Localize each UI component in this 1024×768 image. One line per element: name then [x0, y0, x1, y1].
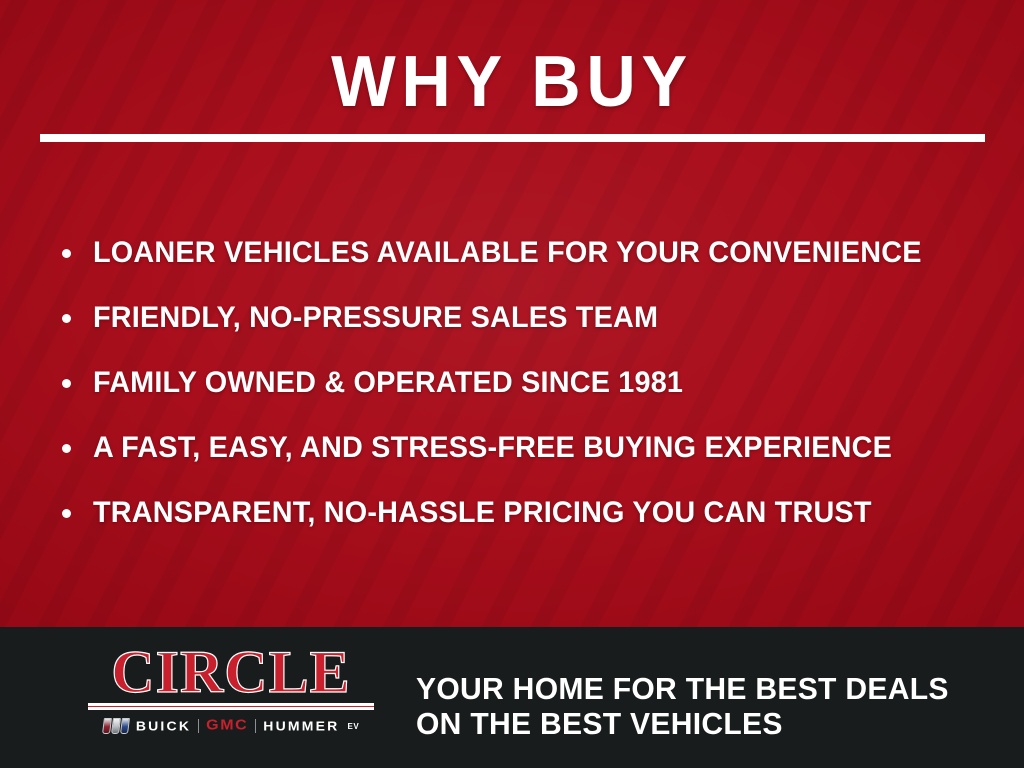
list-item-label: A FAST, EASY, AND STRESS-FREE BUYING EXP…: [93, 433, 892, 463]
bullet-dot-icon: [62, 509, 71, 518]
dealer-logo: CIRCLE BUICK GMC HUMMER EV: [88, 645, 374, 735]
brand-separator-icon: [255, 719, 256, 733]
dealer-logo-wordmark: CIRCLE: [88, 645, 374, 700]
list-item-label: TRANSPARENT, NO-HASSLE PRICING YOU CAN T…: [93, 498, 872, 528]
list-item-label: FRIENDLY, NO-PRESSURE SALES TEAM: [93, 303, 658, 333]
brand-label-hummer-suffix: EV: [348, 722, 360, 731]
footer-bar: CIRCLE BUICK GMC HUMMER EV YOUR HOME FOR…: [0, 627, 1024, 768]
bullet-dot-icon: [62, 249, 71, 258]
list-item: TRANSPARENT, NO-HASSLE PRICING YOU CAN T…: [62, 480, 992, 545]
benefits-list: LOANER VEHICLES AVAILABLE FOR YOUR CONVE…: [62, 220, 992, 545]
list-item: LOANER VEHICLES AVAILABLE FOR YOUR CONVE…: [62, 220, 992, 285]
brand-label-gmc: GMC: [206, 719, 248, 733]
list-item-label: LOANER VEHICLES AVAILABLE FOR YOUR CONVE…: [93, 238, 922, 268]
list-item-label: FAMILY OWNED & OPERATED SINCE 1981: [93, 368, 683, 398]
brand-label-buick: BUICK: [136, 720, 191, 733]
footer-tagline: YOUR HOME FOR THE BEST DEALS ON THE BEST…: [416, 671, 949, 741]
brand-separator-icon: [198, 719, 199, 733]
title-divider: [40, 134, 985, 142]
list-item: FAMILY OWNED & OPERATED SINCE 1981: [62, 350, 992, 415]
bullet-dot-icon: [62, 444, 71, 453]
brand-strip: BUICK GMC HUMMER EV: [88, 717, 374, 735]
dealer-logo-underline: [88, 703, 374, 710]
list-item: A FAST, EASY, AND STRESS-FREE BUYING EXP…: [62, 415, 992, 480]
footer-tagline-line1: YOUR HOME FOR THE BEST DEALS: [416, 671, 949, 706]
bullet-dot-icon: [62, 379, 71, 388]
brand-label-hummer: HUMMER: [263, 720, 339, 733]
buick-tri-shield-icon: [103, 718, 129, 734]
list-item: FRIENDLY, NO-PRESSURE SALES TEAM: [62, 285, 992, 350]
page-title: WHY BUY: [26, 46, 999, 118]
footer-tagline-line2: ON THE BEST VEHICLES: [416, 706, 949, 741]
why-buy-slide: WHY BUY LOANER VEHICLES AVAILABLE FOR YO…: [0, 0, 1024, 768]
bullet-dot-icon: [62, 314, 71, 323]
